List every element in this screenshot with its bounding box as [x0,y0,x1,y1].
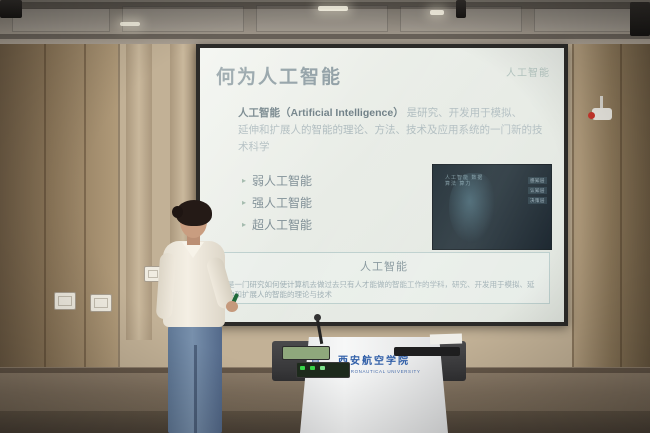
slide-definition-line2: 延伸和扩展人的智能的理论、方法、技术及应用系统的一门新的技术科学 [238,124,543,153]
photo-scene: 何为人工智能 人工智能 人工智能（Artificial Intelligence… [0,0,650,433]
ceiling-light [318,6,348,11]
podium-equipment-rack[interactable] [296,362,350,378]
ceiling-light [430,10,444,15]
ceiling-panel [12,8,110,32]
presenter-leg-seam [194,345,197,433]
figure-label: 感知层 [528,177,547,184]
slide-definition-term: 人工智能（Artificial Intelligence） [238,107,404,119]
slide-title: 何为人工智能 [216,62,548,89]
wall-socket [90,294,112,312]
podium-papers [430,333,462,344]
ceiling-speaker [630,2,650,36]
screen-surface: 何为人工智能 人工智能 人工智能（Artificial Intelligence… [200,48,564,322]
slide-figure-image: 人工智能 数据 算法 算力 感知层 认知层 决策层 [432,164,552,250]
figure-label: 认知层 [528,187,547,194]
figure-labels: 感知层 认知层 决策层 [528,177,547,207]
projection-screen[interactable]: 何为人工智能 人工智能 人工智能（Artificial Intelligence… [196,44,568,326]
podium-control-panel[interactable] [282,346,330,360]
podium-microphone [314,314,321,321]
presenter-hair-bun [172,206,183,218]
slide-banner-title: 人工智能 [219,258,549,274]
presenter-hand [226,301,238,312]
presentation-slide: 何为人工智能 人工智能 人工智能（Artificial Intelligence… [200,48,564,322]
figure-glyph-text: 人工智能 数据 算法 算力 [445,175,485,187]
slide-banner: 人工智能 是一门研究如何使计算机去做过去只有人才能做的智能工作的学科，研究、开发… [218,252,550,304]
slide-definition: 人工智能（Artificial Intelligence） 是研究、开发用于模拟… [238,105,548,156]
podium-status-led [310,366,315,370]
podium-keyboard[interactable] [394,347,460,356]
podium-status-led [300,366,305,370]
figure-label: 决策层 [528,197,547,204]
ceiling-speaker [0,0,22,18]
camera-indicator-light [588,112,595,119]
wall-wood-column [126,40,152,340]
slide-definition-rest: 是研究、开发用于模拟、 [407,107,523,119]
ceiling-panel [122,6,244,32]
slide-logo: 人工智能 [506,64,550,79]
podium-status-led [320,366,325,370]
ceiling-light [120,22,140,26]
slide-banner-subtitle: 是一门研究如何使计算机去做过去只有人才能做的智能工作的学科，研究、开发用于模拟、… [227,280,541,300]
security-camera [592,108,612,120]
presenter [150,205,246,433]
ceiling-mount [456,0,466,18]
wall-socket [54,292,76,310]
ceiling-beam [0,34,650,39]
ceiling-panel [534,8,642,32]
